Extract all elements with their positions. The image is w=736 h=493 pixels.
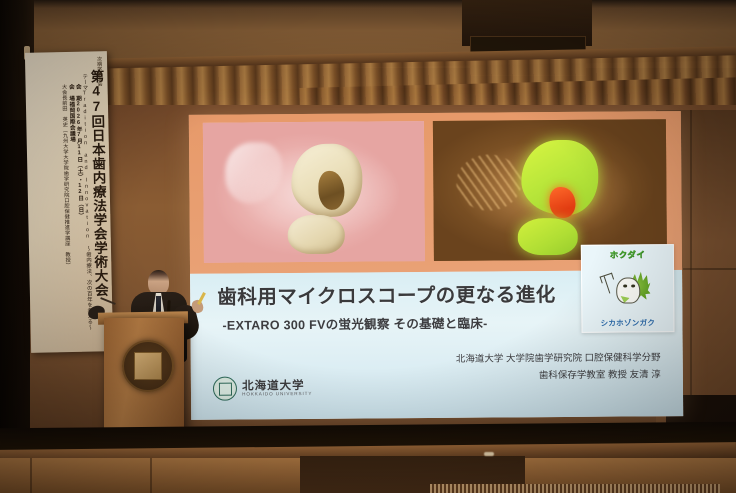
podium-emblem-icon (122, 340, 174, 392)
mascot-card: ホクダイ シカホゾンガク (581, 244, 675, 333)
mascot-top-text: ホクダイ (609, 248, 645, 260)
banner-theme-label: テーマ (81, 74, 87, 91)
fluorescent-caries (550, 187, 576, 218)
projection-screen: 歯科用マイクロスコープの更なる進化 -EXTARO 300 FVの蛍光観察 その… (189, 111, 683, 420)
banner-top-label: 次期学術大会 (96, 56, 104, 86)
fluorescent-tooth-lower (517, 218, 578, 255)
stage-panel-seam (30, 458, 32, 493)
university-logo-text: 北海道大学 HOKKAIDO UNIVERSITY (242, 380, 312, 397)
wall-seam (690, 110, 692, 440)
stage-panel-seam (150, 458, 152, 493)
left-dark-wall (0, 100, 30, 430)
stage-footlight (484, 452, 494, 456)
mascot-body (617, 278, 641, 304)
university-crest-icon (213, 377, 237, 401)
slide-title: 歯科用マイクロスコープの更なる進化 (217, 278, 630, 310)
photo-gloss (225, 142, 283, 204)
white-light-photo (203, 121, 425, 263)
tissue-texture (456, 154, 522, 211)
university-name-en: HOKKAIDO UNIVERSITY (242, 392, 312, 397)
tooth-lower (287, 214, 345, 254)
mascot-character-icon (604, 272, 650, 306)
slide-affiliation: 北海道大学 大学院歯学研究院 口腔保健科学分野 歯科保存学教室 教授 友清 淳 (365, 351, 660, 387)
stage-vent-grille (430, 484, 720, 493)
hokkaido-university-logo: 北海道大学 HOKKAIDO UNIVERSITY (213, 376, 312, 401)
fluorescence-photo (432, 119, 667, 261)
wall-seam-horizontal (683, 268, 736, 270)
lecture-hall-photo: 次期学術大会 第47回日本歯内療法学会学術大会 テーマTradition and… (0, 0, 736, 493)
affiliation-line-2: 歯科保存学教室 教授 友清 淳 (366, 367, 661, 386)
presentation-slide: 歯科用マイクロスコープの更なる進化 -EXTARO 300 FVの蛍光観察 その… (189, 111, 683, 420)
mascot-bottom-text: シカホゾンガク (601, 317, 656, 328)
